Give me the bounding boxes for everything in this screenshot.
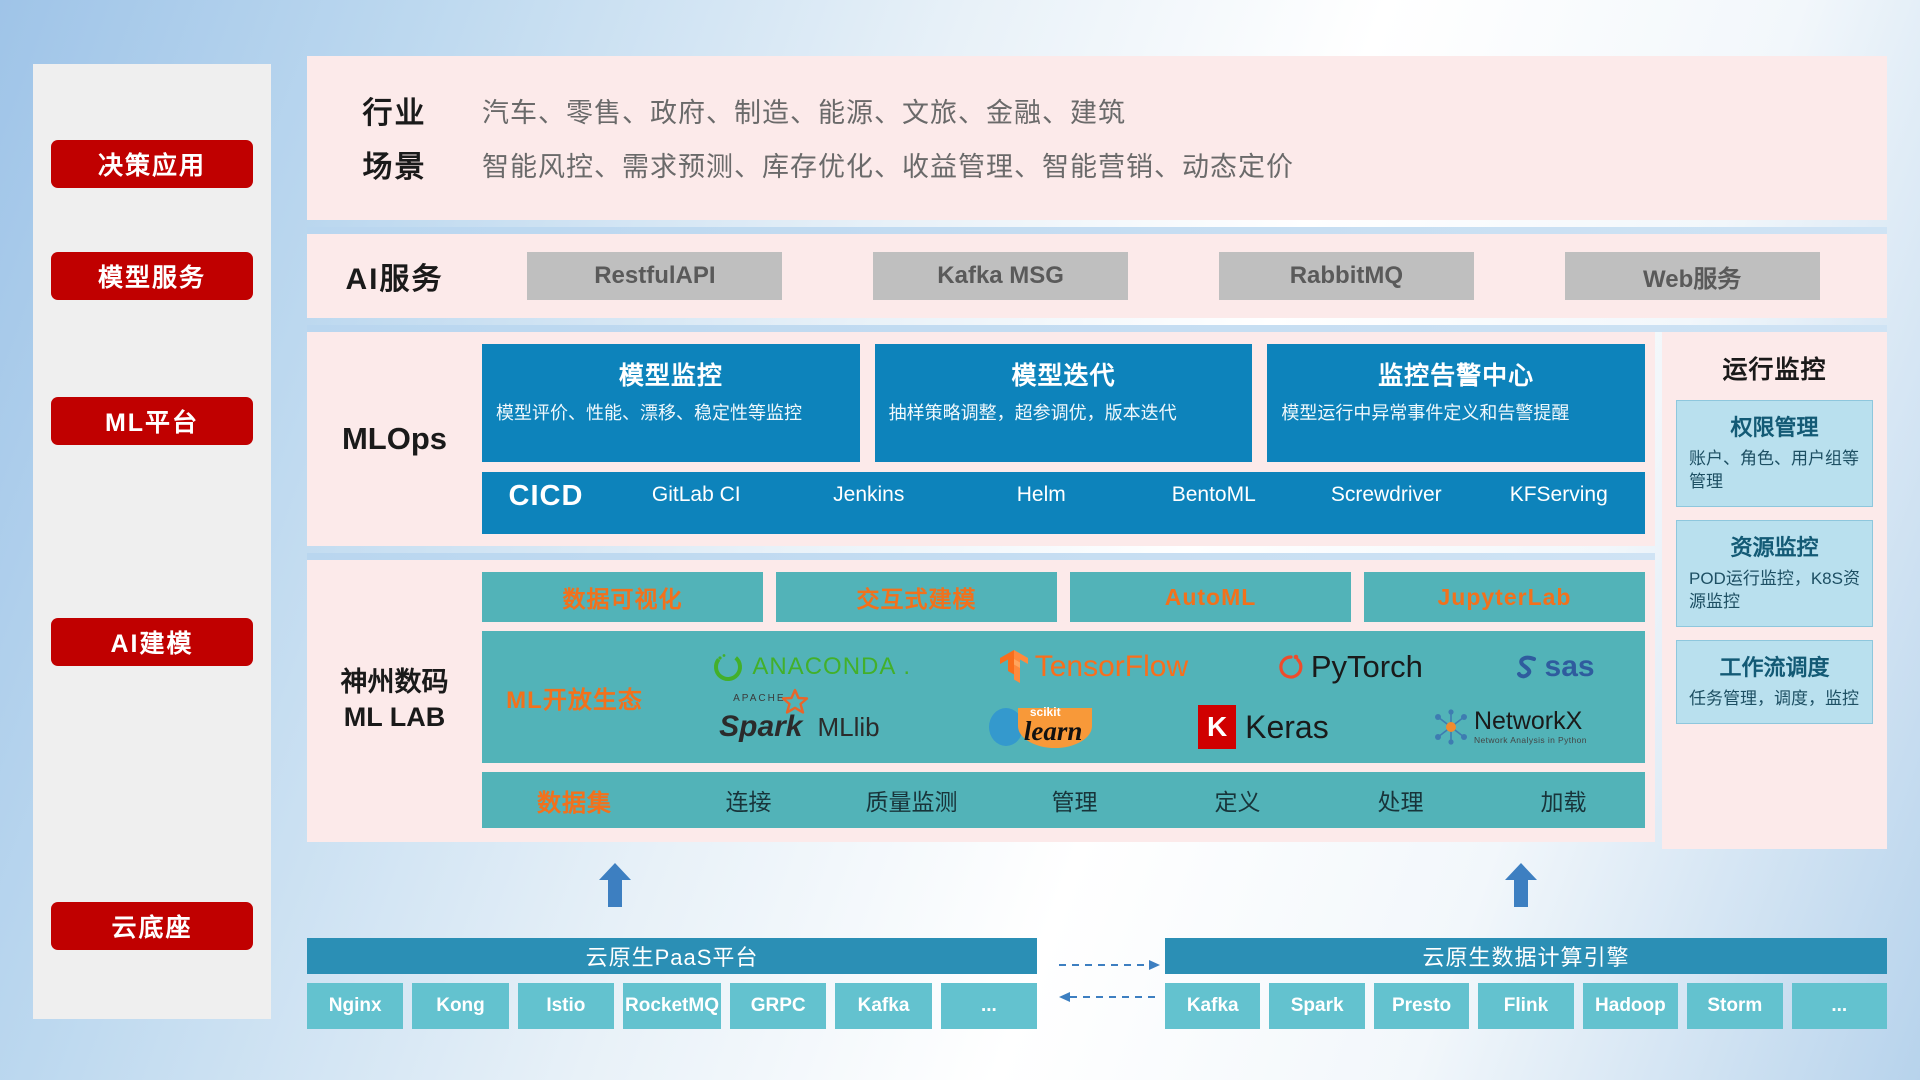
sas-icon xyxy=(1512,652,1542,682)
dataset-title: 数据集 xyxy=(482,783,667,818)
spark-apache-label: APACHE xyxy=(733,693,785,704)
sas-wordmark: sas xyxy=(1545,650,1595,684)
engine-chip-presto[interactable]: Presto xyxy=(1374,983,1469,1029)
eco-label: ML开放生态 xyxy=(482,680,667,715)
ml-lab-label: 神州数码 ML LAB xyxy=(307,572,482,828)
ml-lab-label-line1: 神州数码 xyxy=(341,665,449,700)
logo-sas[interactable]: sas xyxy=(1512,650,1595,684)
mlops-card-list: 模型监控 模型评价、性能、漂移、稳定性等监控 模型迭代 抽样策略调整，超参调优，… xyxy=(482,344,1645,462)
logo-pytorch[interactable]: PyTorch xyxy=(1277,649,1423,685)
model-service-band: AI服务 RestfulAPI Kafka MSG RabbitMQ Web服务 xyxy=(307,234,1887,318)
scenario-row: 场景 智能风控、需求预测、库存优化、收益管理、智能营销、动态定价 xyxy=(307,142,1887,186)
cicd-item-jenkins[interactable]: Jenkins xyxy=(783,480,956,510)
engine-chip-storm[interactable]: Storm xyxy=(1687,983,1782,1029)
card-title: 模型迭代 xyxy=(889,356,1239,392)
paas-up-arrow-icon xyxy=(597,863,633,907)
logo-spark-mllib[interactable]: APACHE Spark MLlib xyxy=(719,710,880,744)
service-chip-rabbitmq[interactable]: RabbitMQ xyxy=(1219,252,1474,300)
anaconda-icon xyxy=(711,650,745,684)
ml-platform-band: MLOps 模型监控 模型评价、性能、漂移、稳定性等监控 模型迭代 抽样策略调整… xyxy=(307,332,1655,546)
paas-title: 云原生PaaS平台 xyxy=(307,938,1037,974)
tab-automl[interactable]: AutoML xyxy=(1070,572,1351,622)
paas-chip-kong[interactable]: Kong xyxy=(412,983,508,1029)
logo-scikit-learn[interactable]: scikit learn xyxy=(984,706,1094,748)
dataset-bar: 数据集 连接 质量监测 管理 定义 处理 加载 xyxy=(482,772,1645,828)
mlops-label: MLOps xyxy=(307,344,482,534)
ml-open-ecosystem: ML开放生态 xyxy=(482,631,1645,763)
eco-logo-row-2: APACHE Spark MLlib xyxy=(667,697,1639,757)
monitor-card-resources[interactable]: 资源监控 POD运行监控，K8S资源监控 xyxy=(1676,520,1873,627)
service-chip-label: Kafka MSG xyxy=(937,262,1064,290)
logo-networkx[interactable]: NetworkX Network Analysis in Python xyxy=(1433,709,1587,745)
monitor-card-title: 资源监控 xyxy=(1689,530,1860,562)
ml-lab-label-line2: ML LAB xyxy=(344,700,446,735)
tensorflow-wordmark: TensorFlow xyxy=(1035,650,1188,684)
service-chip-restfulapi[interactable]: RestfulAPI xyxy=(527,252,782,300)
card-desc: 模型运行中异常事件定义和告警提醒 xyxy=(1281,401,1631,425)
ai-modeling-band: 神州数码 ML LAB 数据可视化 交互式建模 AutoML JupyterLa… xyxy=(307,560,1655,842)
rail-item-model-service[interactable]: 模型服务 xyxy=(51,252,253,300)
cloud-native-paas: 云原生PaaS平台 Nginx Kong Istio RocketMQ GRPC… xyxy=(307,938,1037,1029)
monitor-card-desc: POD运行监控，K8S资源监控 xyxy=(1689,568,1860,614)
band-divider xyxy=(307,553,1655,560)
ml-lab-tab-list: 数据可视化 交互式建模 AutoML JupyterLab xyxy=(482,572,1645,622)
platform-column: MLOps 模型监控 模型评价、性能、漂移、稳定性等监控 模型迭代 抽样策略调整… xyxy=(307,332,1655,849)
cicd-item-helm[interactable]: Helm xyxy=(955,480,1128,510)
rail-label: 云底座 xyxy=(111,908,192,944)
rail-item-ai-modeling[interactable]: AI建模 xyxy=(51,618,253,666)
paas-chip-grpc[interactable]: GRPC xyxy=(730,983,826,1029)
engine-title: 云原生数据计算引擎 xyxy=(1165,938,1887,974)
architecture-diagram: 决策应用 模型服务 ML平台 AI建模 云底座 行业 汽车、零售、政府、制造、能… xyxy=(0,0,1920,1080)
ml-lab-content: 数据可视化 交互式建模 AutoML JupyterLab ML开放生态 xyxy=(482,572,1655,828)
industry-value: 汽车、零售、政府、制造、能源、文旅、金融、建筑 xyxy=(482,91,1126,130)
card-desc: 抽样策略调整，超参调优，版本迭代 xyxy=(889,401,1239,425)
monitor-card-permissions[interactable]: 权限管理 账户、角色、用户组等管理 xyxy=(1676,400,1873,507)
rail-item-cloud-base[interactable]: 云底座 xyxy=(51,902,253,950)
card-desc: 模型评价、性能、漂移、稳定性等监控 xyxy=(496,401,846,425)
rail-label: 决策应用 xyxy=(98,146,206,182)
tab-jupyterlab[interactable]: JupyterLab xyxy=(1364,572,1645,622)
logo-keras[interactable]: K Keras xyxy=(1198,705,1329,749)
arrow-head-right-icon xyxy=(1149,960,1160,970)
cicd-bar: CICD GitLab CI Jenkins Helm BentoML Scre… xyxy=(482,472,1645,534)
paas-chip-nginx[interactable]: Nginx xyxy=(307,983,403,1029)
spark-star-icon xyxy=(781,688,809,716)
engine-chip-list: Kafka Spark Presto Flink Hadoop Storm ..… xyxy=(1165,983,1887,1029)
monitor-panel-title: 运行监控 xyxy=(1676,350,1873,386)
tensorflow-icon xyxy=(999,649,1029,685)
mllib-wordmark: MLlib xyxy=(818,712,880,743)
scenario-label: 场景 xyxy=(307,142,482,186)
networkx-icon xyxy=(1433,709,1469,745)
engine-chip-more[interactable]: ... xyxy=(1792,983,1887,1029)
decision-apps-band: 行业 汽车、零售、政府、制造、能源、文旅、金融、建筑 场景 智能风控、需求预测、… xyxy=(307,56,1887,220)
monitor-card-title: 权限管理 xyxy=(1689,410,1860,442)
monitor-card-desc: 账户、角色、用户组等管理 xyxy=(1689,448,1860,494)
ai-service-label: AI服务 xyxy=(307,254,482,298)
mlops-card-model-monitoring[interactable]: 模型监控 模型评价、性能、漂移、稳定性等监控 xyxy=(482,344,860,462)
cloud-base-section: 云原生PaaS平台 Nginx Kong Istio RocketMQ GRPC… xyxy=(307,893,1887,1023)
cicd-item-bentoml[interactable]: BentoML xyxy=(1128,480,1301,510)
paas-chip-list: Nginx Kong Istio RocketMQ GRPC Kafka ... xyxy=(307,983,1037,1029)
service-chip-label: RabbitMQ xyxy=(1290,262,1403,290)
eco-logo-row-1: ANACONDA . xyxy=(667,637,1639,697)
service-chip-label: Web服务 xyxy=(1643,259,1741,294)
arrow-head-left-icon xyxy=(1059,992,1070,1002)
band-divider xyxy=(307,227,1887,234)
dataset-item-process[interactable]: 处理 xyxy=(1319,783,1482,817)
rail-label: AI建模 xyxy=(110,624,193,660)
layer-rail: 决策应用 模型服务 ML平台 AI建模 云底座 xyxy=(33,64,271,1019)
rail-label: ML平台 xyxy=(105,403,199,439)
paas-chip-more[interactable]: ... xyxy=(941,983,1037,1029)
dataset-item-quality[interactable]: 质量监测 xyxy=(830,783,993,817)
paas-chip-rocketmq[interactable]: RocketMQ xyxy=(623,983,721,1029)
paas-chip-kafka[interactable]: Kafka xyxy=(835,983,931,1029)
industry-label: 行业 xyxy=(307,88,482,132)
dataset-item-define[interactable]: 定义 xyxy=(1156,783,1319,817)
engine-up-arrow-icon xyxy=(1503,863,1539,907)
engine-chip-spark[interactable]: Spark xyxy=(1269,983,1364,1029)
platform-and-monitor-wrapper: MLOps 模型监控 模型评价、性能、漂移、稳定性等监控 模型迭代 抽样策略调整… xyxy=(307,332,1887,849)
rail-label: 模型服务 xyxy=(98,258,206,294)
anaconda-wordmark: ANACONDA xyxy=(752,653,896,681)
card-title: 模型监控 xyxy=(496,356,846,392)
engine-chip-kafka[interactable]: Kafka xyxy=(1165,983,1260,1029)
eco-logo-grid: ANACONDA . xyxy=(667,637,1639,757)
monitor-card-desc: 任务管理，调度，监控 xyxy=(1689,688,1860,711)
mlops-card-model-iteration[interactable]: 模型迭代 抽样策略调整，超参调优，版本迭代 xyxy=(875,344,1253,462)
dataset-item-manage[interactable]: 管理 xyxy=(993,783,1156,817)
bidirectional-dashed-connector xyxy=(1057,945,1162,1013)
cicd-item-screwdriver[interactable]: Screwdriver xyxy=(1300,480,1473,510)
service-chip-label: RestfulAPI xyxy=(594,262,715,290)
pytorch-icon xyxy=(1277,651,1305,683)
mlops-card-alert-center[interactable]: 监控告警中心 模型运行中异常事件定义和告警提醒 xyxy=(1267,344,1645,462)
cicd-title: CICD xyxy=(482,480,610,513)
cicd-item-kfserving[interactable]: KFServing xyxy=(1473,480,1646,510)
dataset-item-load[interactable]: 加载 xyxy=(1482,783,1645,817)
networkx-wordmark: NetworkX xyxy=(1474,709,1587,734)
logo-anaconda[interactable]: ANACONDA . xyxy=(711,650,910,684)
keras-mark-icon: K xyxy=(1198,705,1236,749)
monitor-card-workflow[interactable]: 工作流调度 任务管理，调度，监控 xyxy=(1676,640,1873,724)
service-chip-kafka-msg[interactable]: Kafka MSG xyxy=(873,252,1128,300)
cloud-native-data-engine: 云原生数据计算引擎 Kafka Spark Presto Flink Hadoo… xyxy=(1165,938,1887,1029)
cicd-item-gitlab-ci[interactable]: GitLab CI xyxy=(610,480,783,510)
runtime-monitor-panel: 运行监控 权限管理 账户、角色、用户组等管理 资源监控 POD运行监控，K8S资… xyxy=(1662,332,1887,849)
logo-tensorflow[interactable]: TensorFlow xyxy=(999,649,1188,685)
learn-wordmark: learn xyxy=(1024,716,1083,747)
scenario-value: 智能风控、需求预测、库存优化、收益管理、智能营销、动态定价 xyxy=(482,145,1294,184)
industry-row: 行业 汽车、零售、政府、制造、能源、文旅、金融、建筑 xyxy=(307,88,1887,132)
networkx-tagline: Network Analysis in Python xyxy=(1474,736,1587,745)
tab-data-visualization[interactable]: 数据可视化 xyxy=(482,572,763,622)
dataset-item-connect[interactable]: 连接 xyxy=(667,783,830,817)
main-column: 行业 汽车、零售、政府、制造、能源、文旅、金融、建筑 场景 智能风控、需求预测、… xyxy=(307,56,1887,849)
engine-chip-flink[interactable]: Flink xyxy=(1478,983,1573,1029)
rail-item-ml-platform[interactable]: ML平台 xyxy=(51,397,253,445)
rail-item-decision-apps[interactable]: 决策应用 xyxy=(51,140,253,188)
pytorch-wordmark: PyTorch xyxy=(1311,649,1423,685)
tab-interactive-modeling[interactable]: 交互式建模 xyxy=(776,572,1057,622)
engine-chip-hadoop[interactable]: Hadoop xyxy=(1583,983,1678,1029)
paas-chip-istio[interactable]: Istio xyxy=(518,983,614,1029)
anaconda-dot: . xyxy=(903,653,910,681)
band-divider xyxy=(307,325,1887,332)
ai-service-list: RestfulAPI Kafka MSG RabbitMQ Web服务 xyxy=(482,252,1887,300)
service-chip-web-service[interactable]: Web服务 xyxy=(1565,252,1820,300)
card-title: 监控告警中心 xyxy=(1281,356,1631,392)
keras-wordmark: Keras xyxy=(1245,709,1329,746)
mlops-content: 模型监控 模型评价、性能、漂移、稳定性等监控 模型迭代 抽样策略调整，超参调优，… xyxy=(482,344,1655,534)
monitor-card-title: 工作流调度 xyxy=(1689,650,1860,682)
